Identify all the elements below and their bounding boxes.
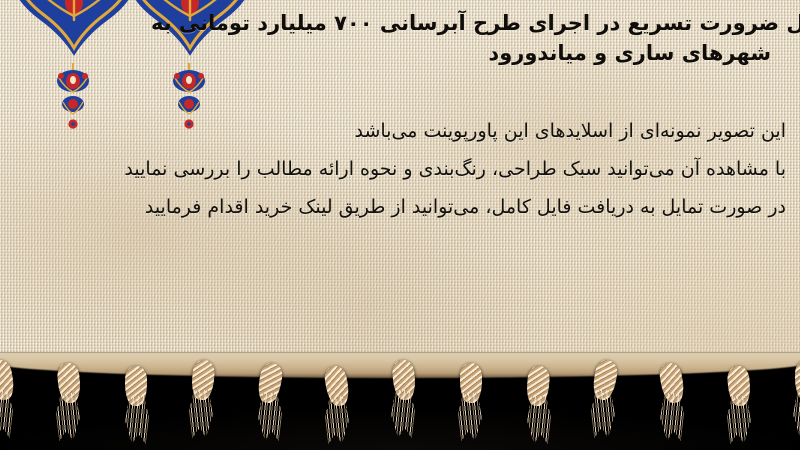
tassel-brush bbox=[457, 393, 484, 441]
title-line-2: شهرهای ساری و میاندورود bbox=[0, 38, 800, 68]
tassel-brush bbox=[256, 393, 283, 441]
tassel-brush bbox=[123, 396, 150, 444]
tassel-brush bbox=[324, 396, 351, 444]
tassel bbox=[254, 361, 288, 447]
tassel-brush bbox=[525, 396, 552, 444]
body-line-1: این تصویر نمونه‌ای از اسلایدهای این پاور… bbox=[0, 112, 792, 150]
tassel bbox=[790, 358, 800, 444]
tassel bbox=[656, 361, 690, 447]
tassel-brush bbox=[791, 390, 800, 438]
tassel bbox=[589, 358, 623, 444]
tassel bbox=[321, 364, 355, 450]
carpet-fringe bbox=[0, 352, 800, 450]
tassel-brush bbox=[188, 390, 215, 438]
tassel-brush bbox=[658, 393, 685, 441]
slide-canvas: یل ضرورت تسریع در اجرای طرح آبرسانی ۷۰۰ … bbox=[0, 0, 800, 450]
tassel-brush bbox=[0, 390, 14, 438]
tassel bbox=[0, 358, 20, 444]
body-line-3: در صورت تمایل به دریافت فایل کامل، می‌تو… bbox=[0, 188, 792, 226]
tassel bbox=[388, 358, 422, 444]
tassel-brush bbox=[55, 393, 82, 441]
slide-body: این تصویر نمونه‌ای از اسلایدهای این پاور… bbox=[0, 112, 800, 226]
tassel-brush bbox=[726, 396, 753, 444]
tassel bbox=[455, 361, 489, 447]
tassel bbox=[522, 364, 556, 450]
body-line-2: با مشاهده آن می‌توانید سبک طراحی، رنگ‌بن… bbox=[0, 150, 792, 188]
title-line-1: یل ضرورت تسریع در اجرای طرح آبرسانی ۷۰۰ … bbox=[0, 8, 800, 38]
tassel bbox=[187, 358, 221, 444]
tassel-brush bbox=[389, 390, 416, 438]
tassel-brush bbox=[590, 390, 617, 438]
tassel bbox=[53, 361, 87, 447]
tassel bbox=[120, 364, 154, 450]
slide-title: یل ضرورت تسریع در اجرای طرح آبرسانی ۷۰۰ … bbox=[0, 8, 800, 68]
tassel bbox=[723, 364, 757, 450]
